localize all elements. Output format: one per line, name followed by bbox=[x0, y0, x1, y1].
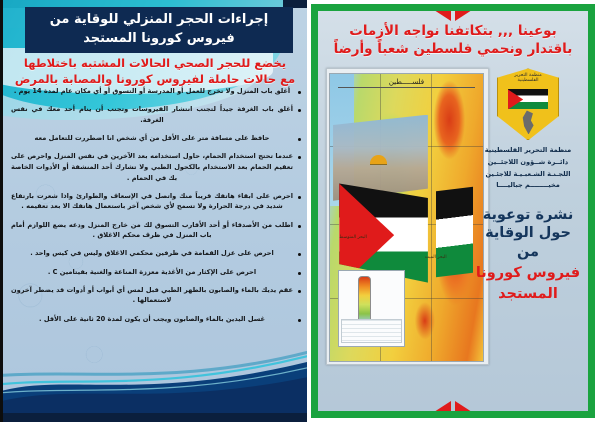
bullet-dot-icon bbox=[298, 253, 301, 256]
top-red-arrows bbox=[318, 10, 588, 21]
palestine-map-figure: فلســـــطين البحر المتوسط صحراء النقب ال… bbox=[326, 68, 489, 365]
plo-emblem: منظمة التحرير الفلسطينية bbox=[497, 68, 559, 140]
list-item-text: اطلب من الأصدقاء أو أحد الأقارب التسوق ل… bbox=[11, 220, 293, 241]
map-title: فلســـــطين bbox=[338, 78, 475, 88]
list-item: احرص على عزل القمامة في ظرفين محكمي الاغ… bbox=[11, 248, 301, 259]
left-content-area: فلســـــطين البحر المتوسط صحراء النقب ال… bbox=[318, 66, 588, 388]
list-item: اطلب من الأصدقاء أو أحد الأقارب التسوق ل… bbox=[11, 220, 301, 241]
list-item-text: حافظ على مسافة متر على الأقل من أي شخص ا… bbox=[11, 133, 293, 144]
legend-rows bbox=[341, 319, 402, 343]
list-item-text: أغلق باب المنزل ولا تخرج للعمل أو المدرس… bbox=[11, 86, 293, 97]
list-item-text: احرص على الإكثار من الأغذية معززة المناع… bbox=[11, 267, 293, 278]
bottom-navy-bar bbox=[3, 413, 307, 422]
right-panel: إجراءات الحجر المنزلي للوقاية من فيروس ك… bbox=[0, 0, 307, 422]
emblem-arc-text: منظمة التحرير الفلسطينية bbox=[505, 73, 551, 88]
org-line-4: مخيــــــــم جباليــــا bbox=[474, 180, 582, 192]
bullet-dot-icon bbox=[298, 196, 301, 199]
subtitle-line-1: يخضع للحجر الصحي الحالات المشتبه باختلاط… bbox=[13, 56, 297, 72]
left-panel-right-column: منظمة التحرير الفلسطينية منظمة التحرير ا… bbox=[474, 66, 582, 384]
emblem-flag-icon bbox=[508, 89, 548, 109]
map-label-mediterranean: البحر المتوسط bbox=[339, 235, 367, 240]
awareness-heading-block: نشرة توعوية حول الوقاية من فيروس كورونا … bbox=[476, 206, 580, 304]
list-item: أغلق باب المنزل ولا تخرج للعمل أو المدرس… bbox=[11, 86, 301, 97]
title-plate: إجراءات الحجر المنزلي للوقاية من فيروس ك… bbox=[25, 7, 293, 53]
list-item-text: أغلق باب الغرفة جيداً لتجنب انتشار الفير… bbox=[11, 104, 293, 125]
bullet-dot-icon bbox=[298, 156, 301, 159]
list-item: عقم يديك بالماء والصابون بالطهر الطبي قب… bbox=[11, 285, 301, 306]
elevation-color-scale bbox=[358, 276, 371, 324]
left-panel: بوعينا ,,, بتكاتفنا نواجه الأزمات باقتدا… bbox=[307, 0, 600, 422]
poster-root: بوعينا ,,, بتكاتفنا نواجه الأزمات باقتدا… bbox=[0, 0, 600, 422]
bullet-dot-icon bbox=[298, 109, 301, 112]
list-item-text: احرص على ابقاء هاتفك قريباً منك واتصل في… bbox=[11, 191, 293, 212]
list-item-text: عندما تحتج استخدام الحمام، حاول استخدامه… bbox=[11, 151, 293, 183]
awareness-line-5: المستجد bbox=[476, 285, 580, 304]
list-item: احرص على ابقاء هاتفك قريباً منك واتصل في… bbox=[11, 191, 301, 212]
list-item: أغلق باب الغرفة جيداً لتجنب انتشار الفير… bbox=[11, 104, 301, 125]
map-legend bbox=[338, 270, 406, 347]
map-gridline bbox=[431, 74, 432, 361]
left-green-frame: بوعينا ,,, بتكاتفنا نواجه الأزمات باقتدا… bbox=[311, 4, 595, 418]
awareness-line-1: نشرة توعوية bbox=[476, 206, 580, 225]
bullet-dot-icon bbox=[298, 290, 301, 293]
list-item-text: غسل اليدين بالماء والصابون ويجب أن يكون … bbox=[11, 314, 293, 325]
organization-name-block: منظمة التحرير الفلسطينية دائــرة شــؤون … bbox=[474, 145, 582, 191]
bullet-dot-icon bbox=[298, 138, 301, 141]
map-label-dead-sea: البحر الميت bbox=[425, 255, 447, 260]
org-line-3: اللجـنـة الشـعبـيـة للاجئـين bbox=[474, 169, 582, 181]
map-frame: فلســـــطين البحر المتوسط صحراء النقب ال… bbox=[329, 73, 484, 362]
list-item: غسل اليدين بالماء والصابون ويجب أن يكون … bbox=[11, 314, 301, 325]
list-item: احرص على الإكثار من الأغذية معززة المناع… bbox=[11, 267, 301, 278]
bullet-dot-icon bbox=[298, 225, 301, 228]
arrow-right-icon bbox=[434, 401, 451, 412]
list-item: حافظ على مسافة متر على الأقل من أي شخص ا… bbox=[11, 133, 301, 144]
palestinian-flag-small bbox=[436, 187, 473, 278]
arrow-right-icon bbox=[434, 10, 451, 21]
bullet-dot-icon bbox=[298, 272, 301, 275]
list-item-text: عقم يديك بالماء والصابون بالطهر الطبي قب… bbox=[11, 285, 293, 306]
title-line-1: إجراءات الحجر المنزلي للوقاية من bbox=[25, 7, 293, 30]
awareness-line-2: حول الوقاية bbox=[476, 224, 580, 243]
arrow-left-icon bbox=[455, 10, 472, 21]
arrow-left-icon bbox=[455, 401, 472, 412]
org-line-2: دائــرة شــؤون اللاجئــين bbox=[474, 157, 582, 169]
instructions-list: أغلق باب المنزل ولا تخرج للعمل أو المدرس… bbox=[11, 86, 301, 370]
list-item-text: احرص على عزل القمامة في ظرفين محكمي الاغ… bbox=[11, 248, 293, 259]
bottom-red-arrows bbox=[318, 401, 588, 412]
awareness-line-3: من bbox=[476, 243, 580, 262]
list-item: عندما تحتج استخدام الحمام، حاول استخدامه… bbox=[11, 151, 301, 183]
awareness-line-4: فيروس كورونا bbox=[476, 264, 580, 283]
title-line-2: فيروس كورونا المستجد bbox=[25, 30, 293, 49]
org-line-1: منظمة التحرير الفلسطينية bbox=[474, 145, 582, 157]
subtitle-line-2: مع حالات حاملة لفيروس كورونا والمصابة با… bbox=[13, 72, 297, 88]
subtitle-block: يخضع للحجر الصحي الحالات المشتبه باختلاط… bbox=[13, 56, 297, 87]
bullet-dot-icon bbox=[298, 91, 301, 94]
bullet-dot-icon bbox=[298, 319, 301, 322]
